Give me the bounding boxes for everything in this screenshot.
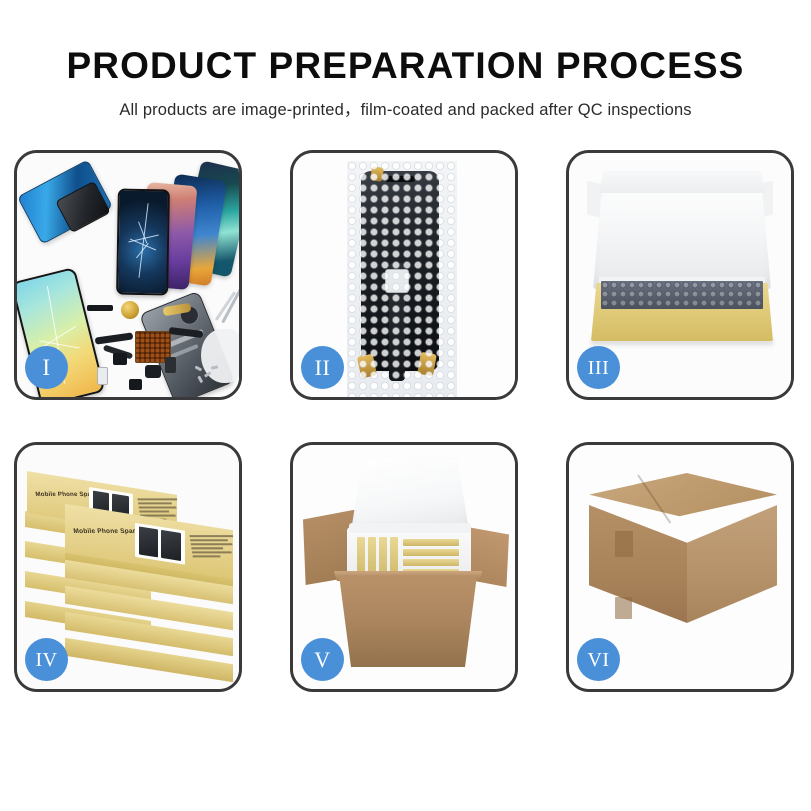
product-preparation-infographic: PRODUCT PREPARATION PROCESS All products… [0,0,811,811]
step-badge-2: II [301,346,344,389]
box-lid-fold [593,171,771,193]
carton-tape-lower [615,597,632,619]
phone-cracked-front-glass [116,189,170,296]
part-screws [195,365,221,385]
foam-box-lip [349,523,471,533]
part-white-component [97,367,108,385]
process-step-1: I [14,150,242,400]
page-subtitle: All products are image-printed，film-coat… [0,96,811,120]
process-step-2: II [290,150,518,400]
process-step-4: Mobile Phone Spare Parts Mobile P [14,442,242,692]
part-small-component-3 [129,379,142,390]
part-gold-coin [121,301,139,319]
bubble-wrapped-contents [601,281,763,309]
gold-contact-top [370,166,384,182]
process-step-5: V [290,442,518,692]
step-badge-6: VI [577,638,620,681]
process-step-3: III [566,150,794,400]
part-black-strip [87,305,113,311]
part-battery-small [165,357,176,373]
header: PRODUCT PREPARATION PROCESS All products… [0,0,811,120]
kraft-carton-body [333,575,483,667]
step-badge-4: IV [25,638,68,681]
step-badge-3: III [577,346,620,389]
process-step-6: VI [566,442,794,692]
carton-tape-upper [615,531,633,557]
part-small-component-1 [113,353,127,365]
process-steps-grid: I II [14,150,797,692]
cable-connector [385,269,409,293]
part-small-component-2 [145,365,161,378]
step-badge-5: V [301,638,344,681]
foam-box-lid [351,457,469,531]
step-badge-1: I [25,346,68,389]
page-title: PRODUCT PREPARATION PROCESS [0,46,811,85]
